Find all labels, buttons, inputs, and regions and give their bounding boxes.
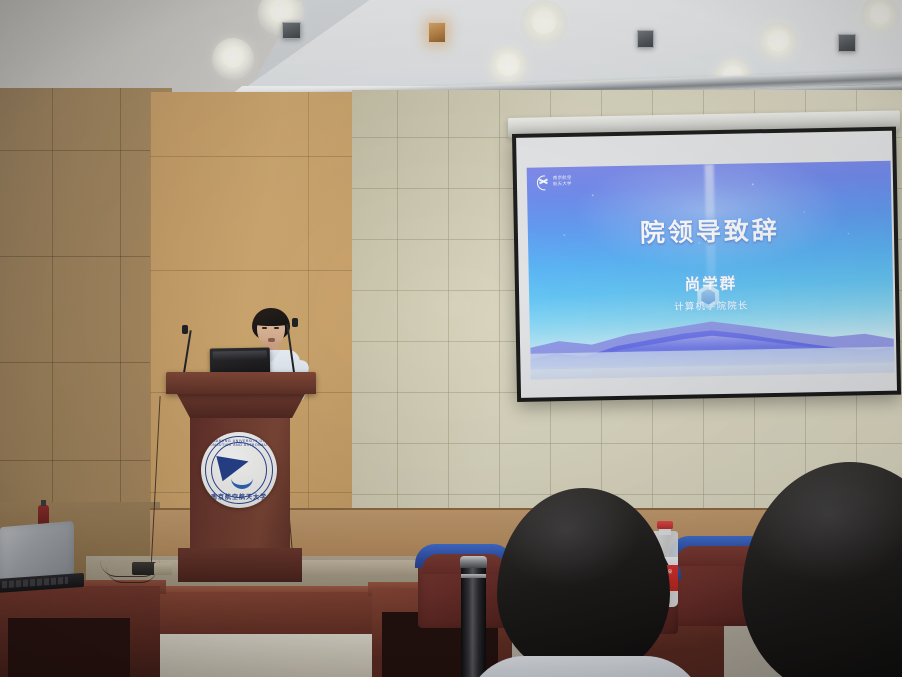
thermos-band: [461, 574, 486, 578]
thermos-cap: [460, 556, 487, 568]
conference-hall-photo: 南京航空 航天大学 院领导致辞 尚学群 计算机学院院长: [0, 0, 902, 677]
bottle-cap: [657, 521, 673, 529]
thermos-bottle[interactable]: [461, 556, 486, 677]
